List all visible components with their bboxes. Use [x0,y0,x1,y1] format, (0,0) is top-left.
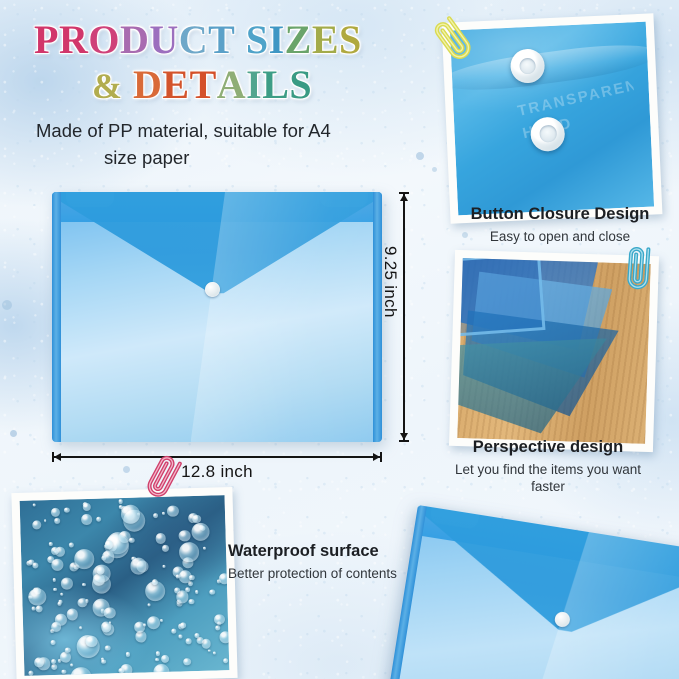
water-droplet [161,655,169,663]
title-letter: O [88,20,120,60]
water-droplet [81,514,92,525]
water-droplet [126,652,130,656]
water-droplet [51,659,56,664]
envelope-body [52,192,382,442]
photo-card-waterproof-surface [11,487,237,679]
water-droplet [143,623,146,626]
dimension-arrow-bottom [400,433,408,440]
subtitle-line-2: size paper [104,145,416,172]
water-droplet [160,619,163,622]
water-droplet [195,590,199,594]
water-droplet [148,603,151,606]
water-droplet [29,671,34,676]
title-letter: P [34,20,59,60]
dimension-cap-right [380,452,382,462]
dimension-line [403,192,405,442]
water-droplet [66,609,78,621]
water-droplet [163,565,166,568]
title-letter: D [133,65,162,105]
water-droplet [83,503,91,511]
caption-button-closure: Button Closure Design Easy to open and c… [444,205,676,245]
background-speck [10,430,17,437]
water-droplets-image [20,495,230,676]
water-droplet [183,658,191,666]
title-letter: L [262,65,289,105]
water-droplet [36,605,44,613]
water-droplet [209,589,215,595]
title-letter: Z [285,20,312,60]
water-droplet [70,664,73,667]
water-droplet [171,629,176,634]
water-droplet [102,550,115,563]
water-droplet [48,542,53,547]
title-letter: E [312,20,339,60]
dimension-arrow-left [54,453,61,461]
title-letter [235,20,246,60]
paperclip-pink-icon [144,452,188,506]
product-envelope-main [52,192,382,442]
water-droplet [189,575,194,580]
water-droplet [208,649,211,652]
water-droplet [69,543,74,548]
water-droplet [62,669,67,674]
envelope-sheet-edge [457,258,545,337]
water-droplet [156,652,160,656]
title-letter: R [59,20,88,60]
water-droplet [146,616,160,630]
title-line-1: PRODUCT SIZES [34,20,364,60]
water-droplet [153,513,158,518]
water-droplet [186,639,191,644]
water-droplet [192,523,211,542]
water-droplet [119,499,124,504]
snap-button-icon [205,282,220,297]
width-dimension-label: 12.8 inch [52,462,382,482]
caption-subtitle-line-2: faster [440,478,656,496]
water-droplet [53,588,57,592]
caption-subtitle-line-1: Let you find the items you want [440,461,656,479]
dimension-arrow-top [400,194,408,201]
water-droplet [105,645,111,651]
water-droplet [153,664,170,676]
infographic-canvas: PRODUCT SIZES & DETAILS Made of PP mater… [0,0,679,679]
water-droplet [58,602,62,606]
water-droplet [86,636,98,648]
water-droplet [104,607,116,619]
embossed-text: TRANSPARENT HOLD [515,76,643,163]
envelope-snap-macro-image: TRANSPARENT HOLD [450,22,654,216]
water-droplet [179,635,183,639]
water-droplet [220,631,230,643]
water-droplet [74,549,94,569]
water-droplet [32,521,41,530]
water-droplet [60,592,63,595]
water-droplet [51,621,61,631]
paperclip-cyan-icon [622,243,662,295]
water-droplet [162,545,169,552]
water-droplet [214,614,225,625]
water-droplet [32,562,38,568]
height-dimension-label: 9.25 inch [380,246,400,318]
water-droplet [101,622,112,633]
water-droplet [52,578,56,582]
water-droplet [162,512,165,515]
water-droplet [203,547,206,550]
title-letter: S [289,65,312,105]
photo-image-button-closure: TRANSPARENT HOLD [450,22,654,216]
subtitle-line-1: Made of PP material, suitable for A4 [36,120,331,141]
background-speck [432,167,437,172]
title-letter: & [92,68,123,104]
water-droplet [179,542,199,562]
water-droplet [82,583,86,587]
caption-title: Button Closure Design [444,205,676,225]
dimension-cap-bottom [399,440,409,442]
water-droplet [44,519,47,522]
water-droplet [155,533,166,544]
water-droplet [119,668,124,673]
water-droplet [65,647,71,653]
water-droplet [189,599,195,605]
water-droplet [223,658,228,663]
water-droplet [93,574,105,586]
background-speck [2,300,12,310]
water-droplet [71,667,92,676]
subtitle: Made of PP material, suitable for A4 siz… [36,118,416,172]
water-droplet [52,559,64,571]
water-droplet [28,588,46,606]
title-letter: T [208,20,235,60]
title-letter: E [162,65,189,105]
water-droplet [64,507,70,513]
title-letter: A [217,65,246,105]
water-droplet [174,588,180,594]
title-letter: T [190,65,217,105]
title-letter: D [120,20,149,60]
envelope-graphic [52,192,382,442]
water-droplet [51,640,56,645]
caption-title: Perspective design [440,438,656,458]
water-droplet [179,530,191,542]
water-droplet [101,660,105,664]
photo-image-waterproof-surface [20,495,230,676]
water-droplet [33,503,36,506]
page-title: PRODUCT SIZES & DETAILS [34,20,364,105]
title-line-2: & DETAILS [92,65,364,105]
dimension-arrow-right [373,453,380,461]
title-letter: S [246,20,269,60]
title-letter: I [269,20,285,60]
water-droplet [51,664,57,670]
title-letter: C [179,20,208,60]
water-droplet [167,505,179,517]
title-letter: I [246,65,262,105]
water-droplet [60,652,71,663]
caption-perspective-design: Perspective design Let you find the item… [440,438,656,496]
water-droplet [212,651,215,654]
water-droplet [129,537,134,542]
water-droplet [215,626,220,631]
envelope-spine-left [52,192,61,442]
dimension-line [52,456,382,458]
water-droplet [61,578,73,590]
title-letter [123,65,134,105]
water-droplet [54,518,60,524]
water-droplet [51,508,60,517]
water-droplet [79,626,82,629]
title-letter: U [149,20,178,60]
water-droplet [77,598,87,608]
water-droplet [96,517,101,522]
water-droplet [155,658,159,662]
title-letter: S [339,20,362,60]
water-droplet [180,622,186,628]
background-speck [416,152,424,160]
paperclip-yellow-icon [432,12,480,64]
